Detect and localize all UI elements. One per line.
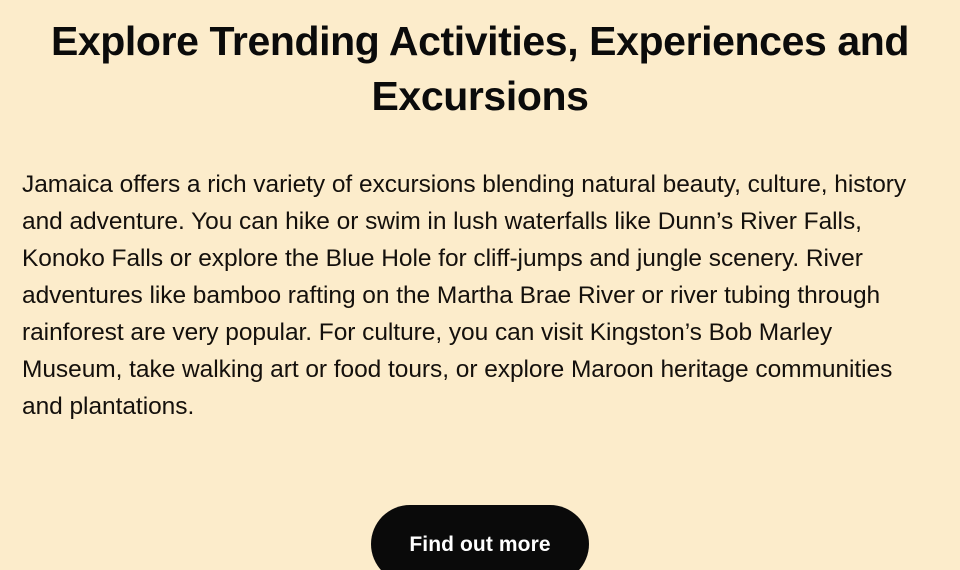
body-block: Jamaica offers a rich variety of excursi… (0, 166, 960, 425)
page-title: Explore Trending Activities, Experiences… (45, 14, 915, 124)
promo-card: Explore Trending Activities, Experiences… (0, 0, 960, 570)
heading-block: Explore Trending Activities, Experiences… (0, 0, 960, 124)
find-out-more-button[interactable]: Find out more (371, 505, 589, 570)
cta-row: Find out more (0, 505, 960, 570)
description-paragraph: Jamaica offers a rich variety of excursi… (22, 166, 936, 425)
find-out-more-label: Find out more (409, 534, 550, 555)
